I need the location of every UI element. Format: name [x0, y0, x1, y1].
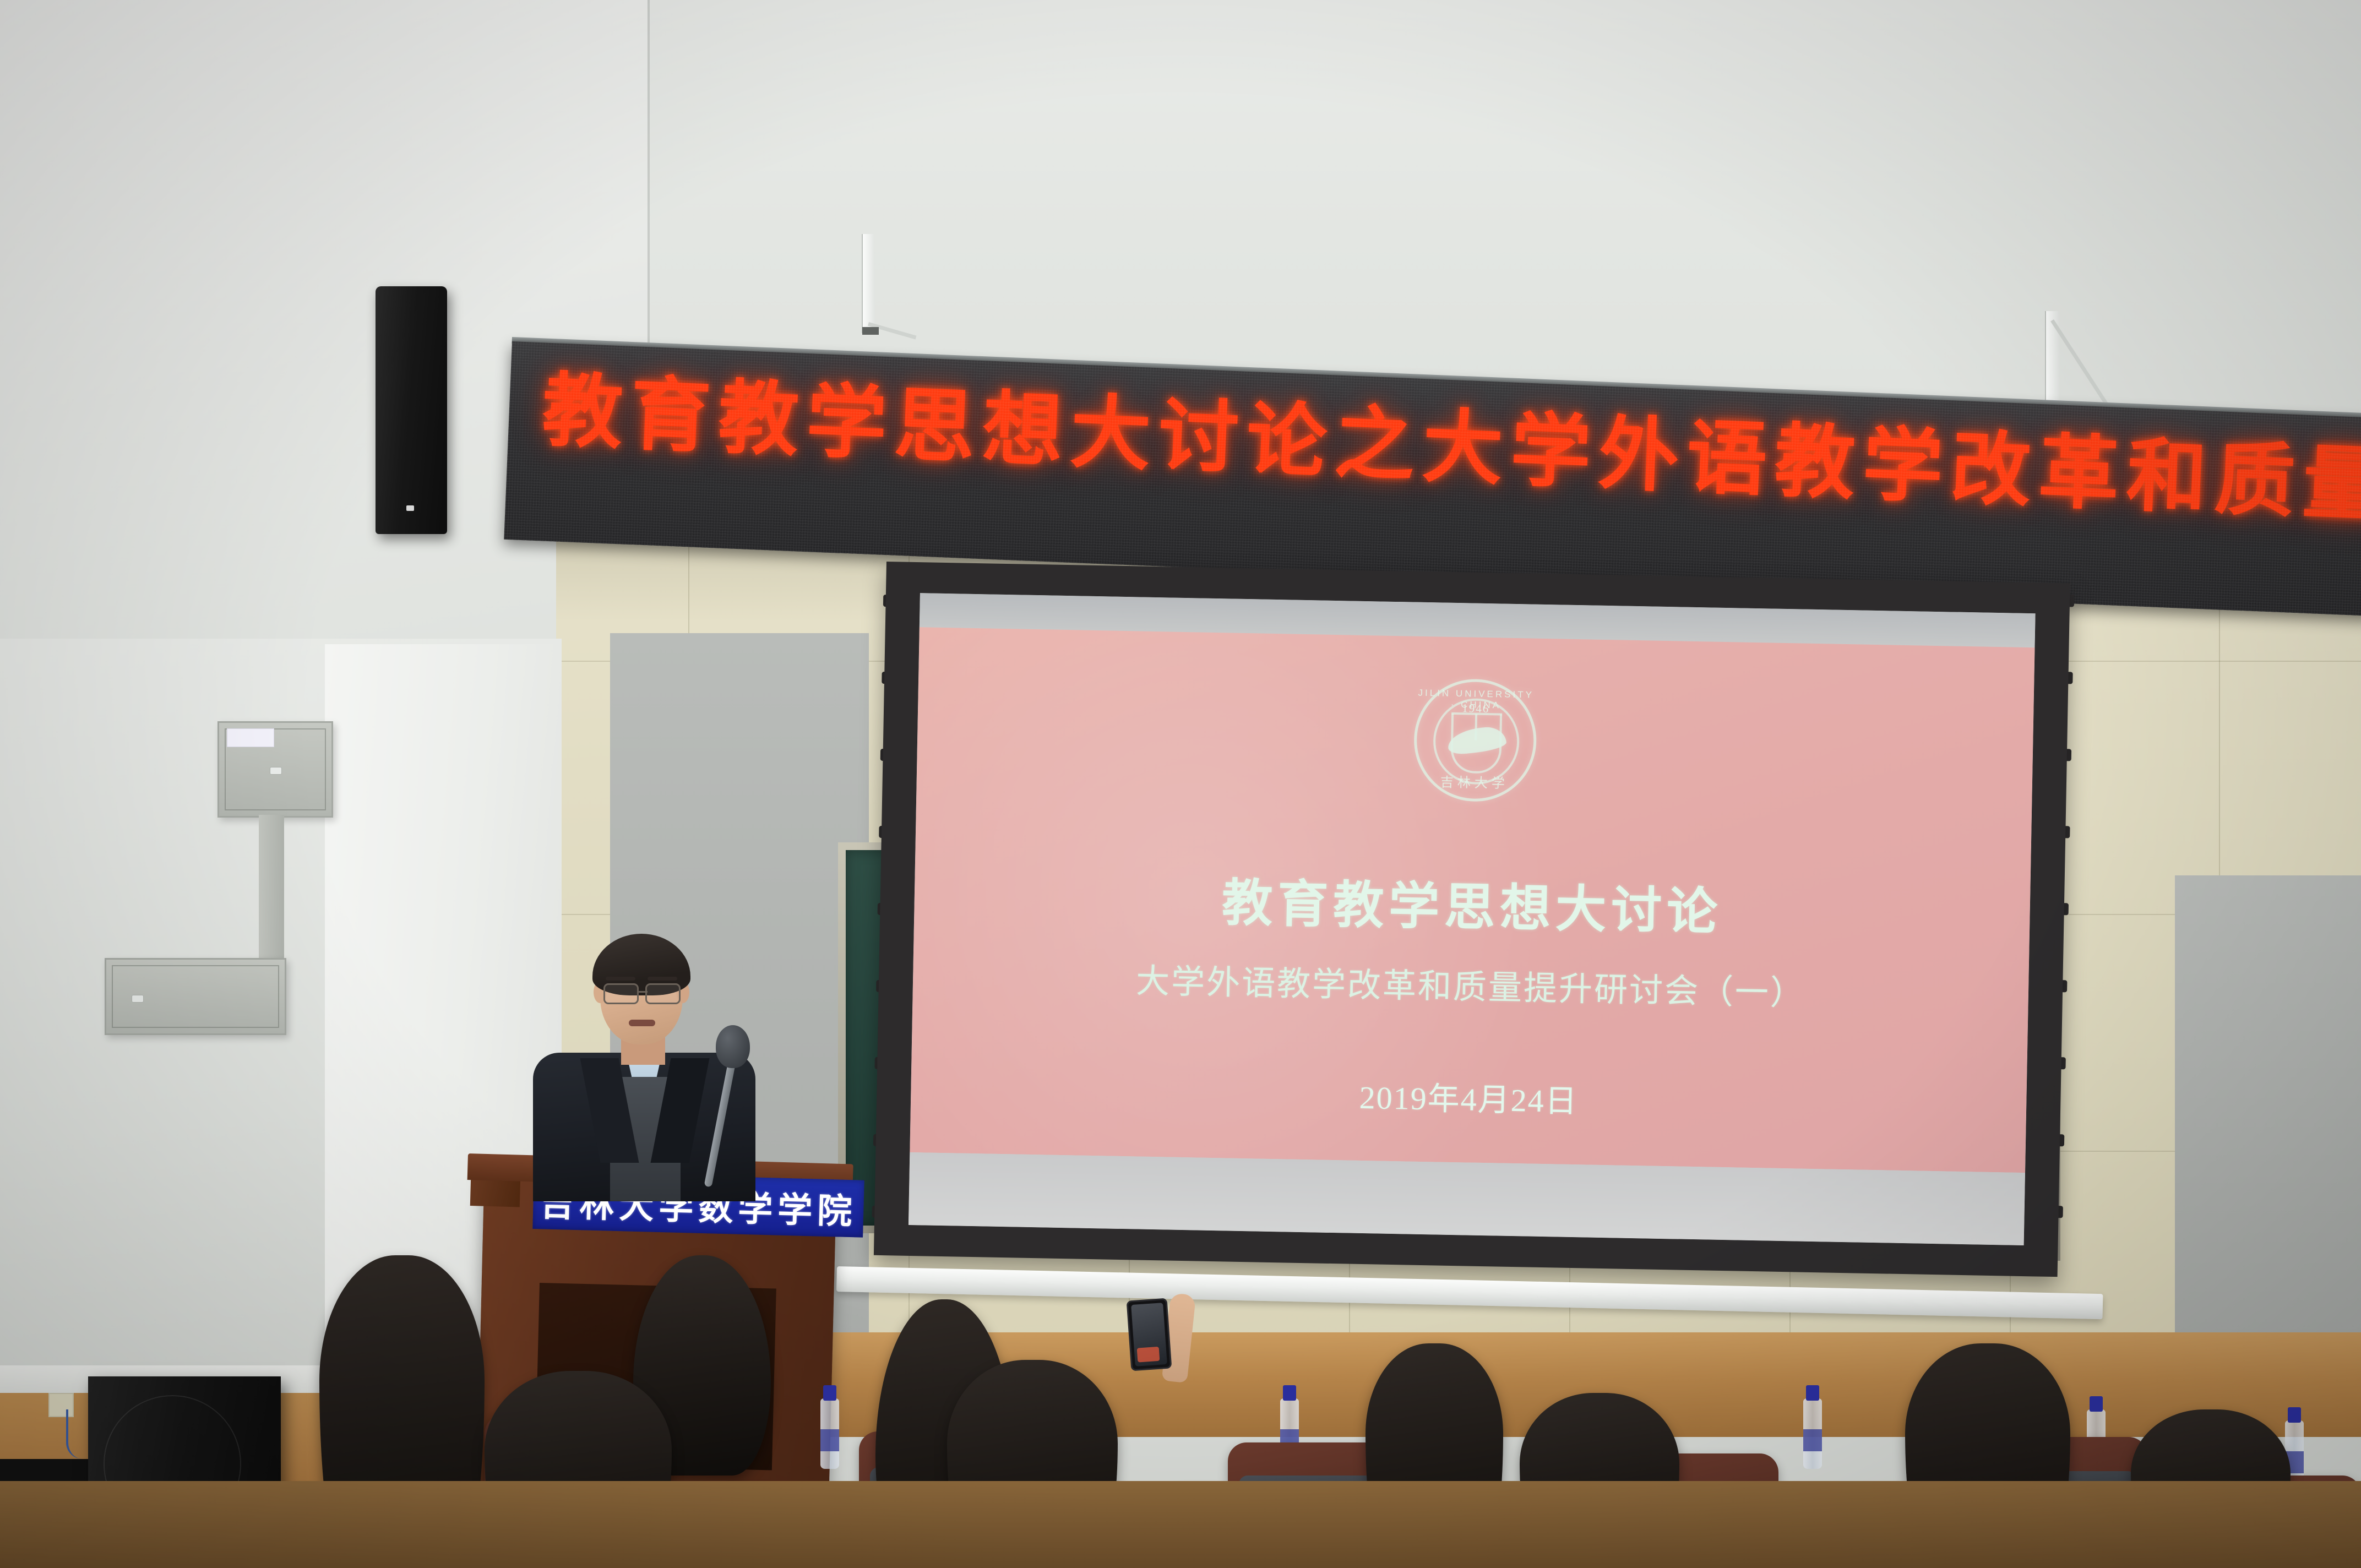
microphone-icon: [716, 1025, 750, 1068]
presentation-slide: JILIN UNIVERSITY · CHINA 1946 吉林大学 教育教学思…: [910, 627, 2034, 1173]
water-bottle[interactable]: [820, 1398, 839, 1469]
bracket-foot: [862, 327, 879, 335]
electrical-panel-upper[interactable]: [217, 721, 333, 818]
speaker-cable: [66, 1409, 99, 1459]
electrical-panel-lower[interactable]: [105, 958, 286, 1035]
smartphone-icon: [1127, 1298, 1172, 1371]
grey-wall-panel: [2175, 875, 2361, 1338]
water-bottle[interactable]: [1803, 1398, 1822, 1469]
foreground-floor: [0, 1481, 2361, 1568]
slide-subtitle: 大学外语教学改革和质量提升研讨会（一）: [1135, 953, 1805, 1014]
panel-label: [227, 728, 274, 747]
screen-surface: JILIN UNIVERSITY · CHINA 1946 吉林大学 教育教学思…: [909, 593, 2036, 1245]
jilin-university-logo-icon: JILIN UNIVERSITY · CHINA 1946 吉林大学: [1413, 678, 1537, 803]
slide-title: 教育教学思想大讨论: [1221, 862, 1723, 944]
projection-screen: JILIN UNIVERSITY · CHINA 1946 吉林大学 教育教学思…: [874, 562, 2070, 1277]
upper-left-wall: [0, 0, 650, 661]
eyeglasses-icon: [645, 983, 681, 1004]
electrical-conduit: [259, 815, 284, 974]
photo-scene: 教育教学思想大讨论之大学外语教学改革和质量提升研讨会 JILIN UNIVERS…: [0, 0, 2361, 1568]
eyeglasses-icon: [603, 983, 639, 1004]
logo-arc-bottom-text: 吉林大学: [1416, 771, 1533, 792]
wall-speaker-icon: [376, 286, 447, 534]
slide-date: 2019年4月24日: [1359, 1071, 1578, 1121]
banner-mount-bracket: [862, 234, 875, 333]
